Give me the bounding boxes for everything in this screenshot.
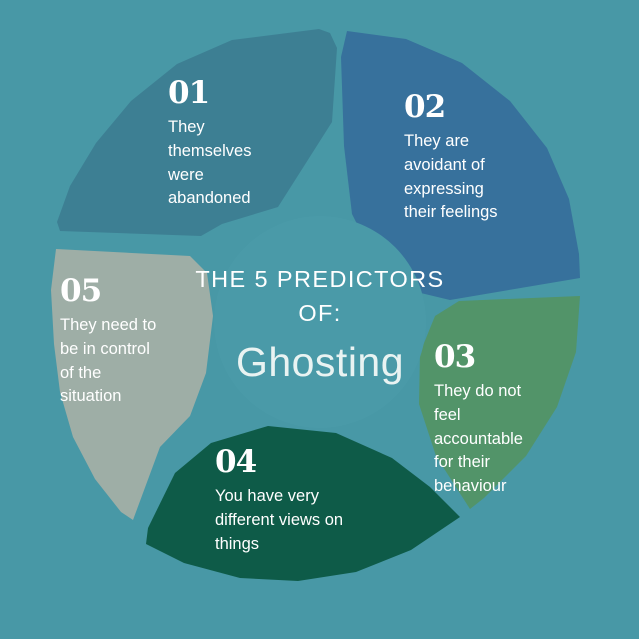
- segment-04-label-group: 04 You have very different views on thin…: [215, 447, 385, 556]
- ghosting-predictors-infographic: 01 They themselves were abandoned 02 The…: [0, 0, 639, 639]
- segment-05-number: 05: [60, 276, 185, 307]
- center-title-line2: OF:: [184, 296, 456, 330]
- segment-04-number: 04: [215, 447, 385, 478]
- segment-01-label-group: 01 They themselves were abandoned: [168, 78, 298, 211]
- segment-02-number: 02: [404, 92, 539, 123]
- segment-02-label-group: 02 They are avoidant of expressing their…: [404, 92, 539, 225]
- segment-01-number: 01: [168, 78, 298, 109]
- segment-03-text: They do not feel accountable for their b…: [434, 380, 556, 499]
- segment-05-text: They need to be in control of the situat…: [60, 314, 185, 409]
- segment-05-label-group: 05 They need to be in control of the sit…: [60, 276, 185, 409]
- segment-04-text: You have very different views on things: [215, 485, 385, 556]
- center-subject: Ghosting: [184, 339, 456, 386]
- segment-02-text: They are avoidant of expressing their fe…: [404, 130, 539, 225]
- center-label-group: THE 5 PREDICTORS OF: Ghosting: [184, 262, 456, 386]
- segment-01-text: They themselves were abandoned: [168, 116, 298, 211]
- center-title-line1: THE 5 PREDICTORS: [184, 262, 456, 296]
